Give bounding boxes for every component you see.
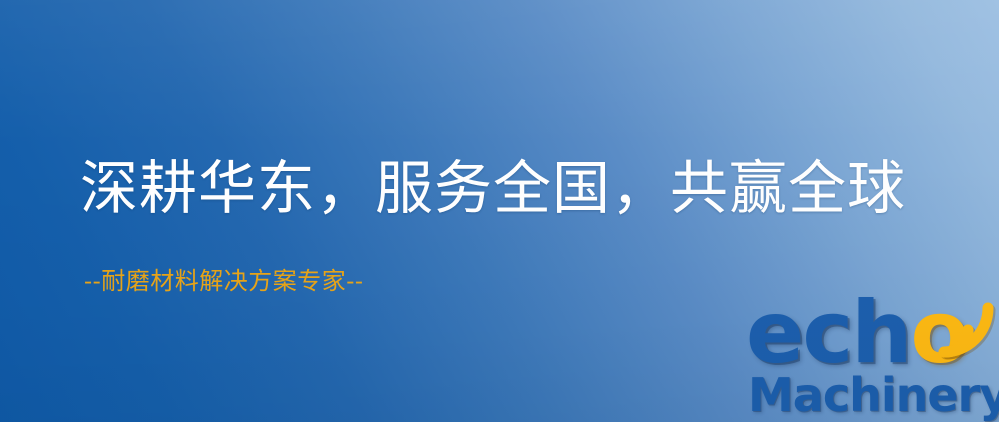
banner-subtitle: --耐磨材料解决方案专家-- bbox=[84, 266, 363, 296]
logo-tagline: Machinery® bbox=[748, 366, 999, 420]
signal-waves-icon bbox=[924, 288, 999, 360]
logo-tagline-text: Machinery bbox=[748, 368, 999, 422]
echo-machinery-logo[interactable]: echo Machinery® bbox=[742, 290, 999, 422]
hero-banner: 深耕华东，服务全国，共赢全球 --耐磨材料解决方案专家-- echo Machi… bbox=[0, 0, 999, 422]
banner-headline: 深耕华东，服务全国，共赢全球 bbox=[80, 152, 906, 224]
